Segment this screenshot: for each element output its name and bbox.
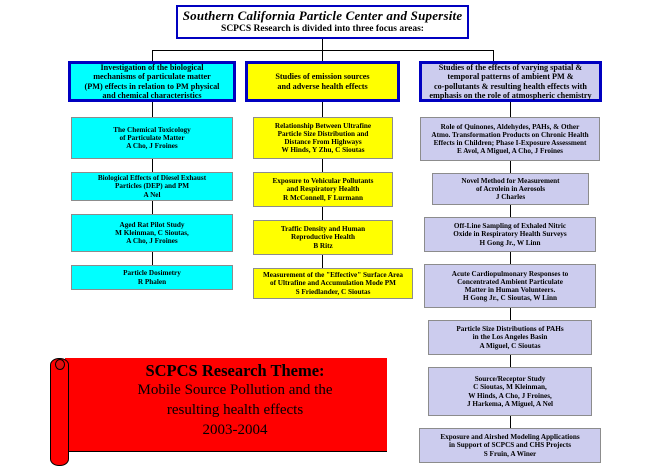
connector-c3-3: [510, 252, 511, 264]
chart-title-box: Southern California Particle Center and …: [176, 5, 469, 39]
project-label: Aged Rat Pilot Study M Kleinman, C Siout…: [74, 221, 230, 245]
project-exhaled-nitric-oxide[interactable]: Off-Line Sampling of Exhaled Nitric Oxid…: [424, 217, 596, 252]
project-label: Biological Effects of Diesel Exhaust Par…: [74, 174, 230, 198]
diagram-canvas: Southern California Particle Center and …: [0, 0, 646, 473]
project-label: Traffic Density and Human Reproductive H…: [256, 225, 390, 249]
project-label: Particle Size Distributions of PAHs in t…: [431, 325, 589, 349]
connector-c3-0: [510, 101, 511, 117]
connector-c1-2: [152, 201, 153, 214]
research-theme-banner: SCPCS Research Theme: Mobile Source Poll…: [47, 358, 387, 466]
focus-area-label: Investigation of the biological mechanis…: [74, 63, 230, 100]
project-label: Particle Dosimetry R Phalen: [74, 269, 230, 285]
project-aged-rat-pilot-study[interactable]: Aged Rat Pilot Study M Kleinman, C Siout…: [71, 214, 233, 252]
connector-c3-5: [510, 355, 511, 367]
project-label: Role of Quinones, Aldehydes, PAHs, & Oth…: [423, 123, 597, 155]
focus-area-label: Studies of the effects of varying spatia…: [425, 63, 596, 100]
project-chemical-toxicology[interactable]: The Chemical Toxicology of Particulate M…: [71, 117, 233, 159]
connector-c2-3: [322, 255, 323, 268]
connector-c1-3: [152, 252, 153, 265]
focus-area-biological-mechanisms[interactable]: Investigation of the biological mechanis…: [68, 61, 236, 102]
connector-c1-1: [152, 159, 153, 172]
project-vehicular-pollutants-respiratory[interactable]: Exposure to Vehicular Pollutants and Res…: [253, 172, 393, 207]
project-acute-cardiopulmonary[interactable]: Acute Cardiopulmonary Responses to Conce…: [424, 264, 596, 308]
scroll-knob-icon: [55, 359, 65, 370]
theme-line-2: Mobile Source Pollution and the: [87, 381, 383, 401]
project-ultrafine-distance-highways[interactable]: Relationship Between Ultrafine Particle …: [253, 117, 393, 159]
project-airshed-modeling[interactable]: Exposure and Airshed Modeling Applicatio…: [419, 428, 601, 463]
connector-c3-6: [510, 416, 511, 428]
research-theme-text: SCPCS Research Theme: Mobile Source Poll…: [87, 360, 383, 441]
page-subtitle: SCPCS Research is divided into three foc…: [221, 24, 424, 35]
focus-area-emission-sources[interactable]: Studies of emission sources and adverse …: [245, 61, 400, 102]
project-quinones-aldehydes-pahs[interactable]: Role of Quinones, Aldehydes, PAHs, & Oth…: [420, 117, 600, 161]
project-label: Measurement of the "Effective" Surface A…: [256, 271, 410, 295]
project-label: Exposure to Vehicular Pollutants and Res…: [256, 177, 390, 201]
page-title: Southern California Particle Center and …: [183, 9, 463, 24]
project-traffic-density-reproductive[interactable]: Traffic Density and Human Reproductive H…: [253, 220, 393, 255]
project-diesel-exhaust-effects[interactable]: Biological Effects of Diesel Exhaust Par…: [71, 172, 233, 201]
connector-c2-2: [322, 207, 323, 220]
connector-c2-0: [322, 101, 323, 117]
project-acrolein-measurement[interactable]: Novel Method for Measurement of Acrolein…: [432, 173, 589, 205]
connector-c3-1: [510, 161, 511, 173]
project-label: Acute Cardiopulmonary Responses to Conce…: [427, 270, 593, 302]
project-label: The Chemical Toxicology of Particulate M…: [74, 126, 230, 150]
connector-title-to-bus: [322, 38, 323, 50]
theme-line-3: resulting health effects: [87, 401, 383, 421]
project-label: Relationship Between Ultrafine Particle …: [256, 122, 390, 154]
theme-years: 2003-2004: [87, 421, 383, 441]
connector-c3-2: [510, 205, 511, 217]
theme-heading: SCPCS Research Theme:: [87, 360, 383, 381]
project-source-receptor-study[interactable]: Source/Receptor Study C Sioutas, M Klein…: [428, 367, 592, 416]
focus-area-label: Studies of emission sources and adverse …: [251, 72, 394, 90]
connector-c2-1: [322, 159, 323, 172]
project-label: Off-Line Sampling of Exhaled Nitric Oxid…: [427, 222, 593, 246]
connector-c3-4: [510, 308, 511, 320]
connector-c1-0: [152, 101, 153, 117]
project-label: Source/Receptor Study C Sioutas, M Klein…: [431, 375, 589, 407]
project-particle-dosimetry[interactable]: Particle Dosimetry R Phalen: [71, 265, 233, 290]
project-pah-size-distributions[interactable]: Particle Size Distributions of PAHs in t…: [428, 320, 592, 355]
focus-area-spatial-temporal-patterns[interactable]: Studies of the effects of varying spatia…: [419, 61, 602, 102]
project-effective-surface-area[interactable]: Measurement of the "Effective" Surface A…: [253, 268, 413, 299]
project-label: Novel Method for Measurement of Acrolein…: [435, 177, 586, 201]
project-label: Exposure and Airshed Modeling Applicatio…: [422, 433, 598, 457]
scroll-roll-icon: [50, 358, 69, 466]
